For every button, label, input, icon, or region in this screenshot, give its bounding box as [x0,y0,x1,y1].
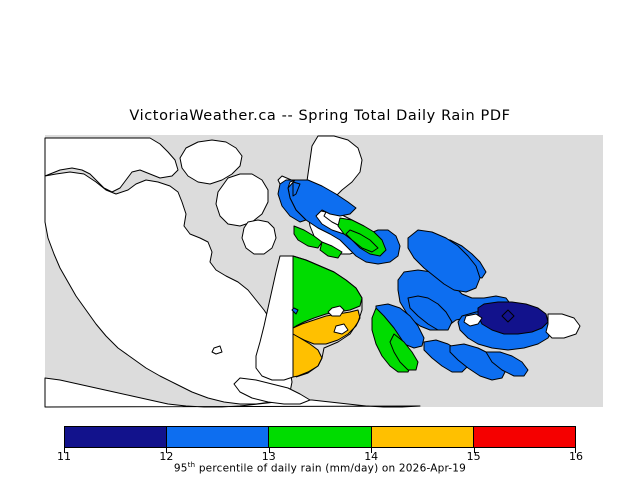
map-svg [0,130,640,415]
colorbar [64,426,576,448]
colorbar-segment-red [474,427,575,447]
colorbar-segment-green [269,427,371,447]
colorbar-group [64,426,576,448]
colorbar-segment-navy [65,427,167,447]
colorbar-segment-orange [372,427,474,447]
page-title: VictoriaWeather.ca -- Spring Total Daily… [0,108,640,124]
map-canvas [0,130,640,415]
weather-map-page: VictoriaWeather.ca -- Spring Total Daily… [0,0,640,480]
colorbar-caption: 95th percentile of daily rain (mm/day) o… [0,461,640,475]
land-island-nw-c [242,220,276,254]
caption-text: percentile of daily rain (mm/day) on 202… [195,463,466,475]
caption-percentile-number: 95 [174,463,188,475]
colorbar-segment-blue [167,427,269,447]
